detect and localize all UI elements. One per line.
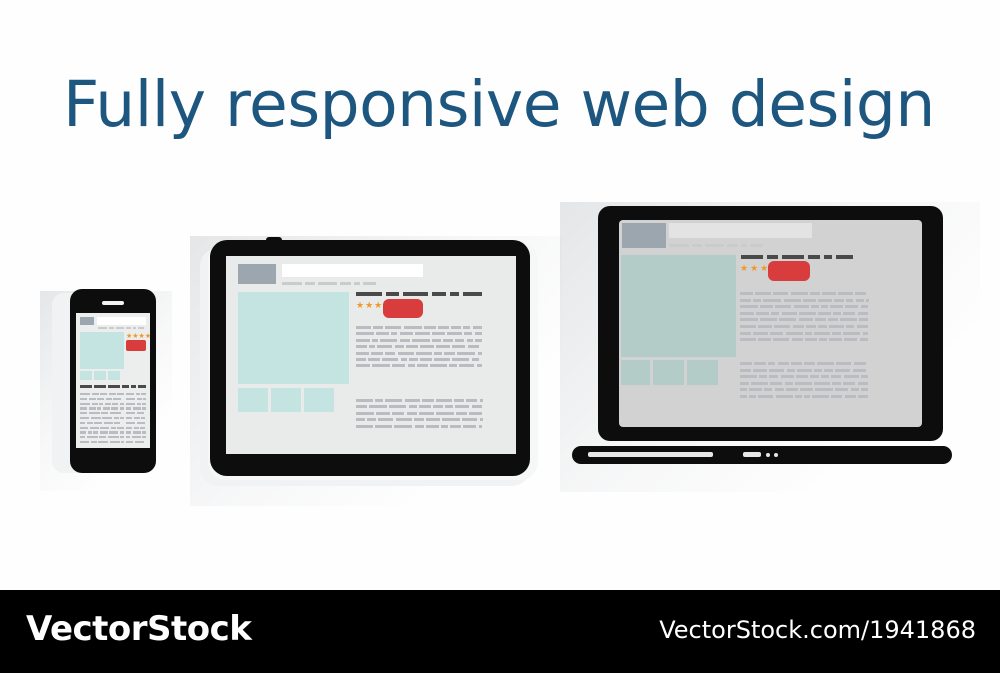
tablet-mini-nav-item[interactable] <box>305 282 315 285</box>
text-line <box>356 405 367 408</box>
text-line <box>98 441 108 443</box>
text-line <box>749 388 762 391</box>
text-line <box>409 358 418 361</box>
text-line <box>376 332 389 335</box>
text-line <box>786 388 798 391</box>
text-line <box>843 332 860 335</box>
text-line <box>401 358 407 361</box>
text-line <box>467 339 473 342</box>
text-line <box>817 362 834 365</box>
text-line <box>394 425 412 428</box>
text-line <box>779 318 796 321</box>
text-line <box>132 436 141 438</box>
text-line <box>436 412 454 415</box>
laptop-thumbnail[interactable] <box>653 360 684 385</box>
text-line <box>356 412 374 415</box>
text-line <box>436 399 452 402</box>
text-line <box>740 292 753 295</box>
text-line <box>126 398 135 400</box>
text-line <box>810 375 819 378</box>
text-line <box>861 375 868 378</box>
text-line <box>753 369 767 372</box>
device-laptop: ★★★★★ <box>568 200 968 475</box>
text-line <box>804 395 810 398</box>
tablet-nav-dash[interactable] <box>432 292 446 296</box>
text-line <box>110 441 120 443</box>
text-line <box>844 338 857 341</box>
text-line <box>80 441 89 443</box>
laptop-search-bar[interactable] <box>669 223 812 238</box>
watermark-footer: VectorStock VectorStock.com/1941868 <box>0 590 1000 673</box>
text-line <box>92 393 99 395</box>
text-line <box>126 441 133 443</box>
tablet-site-logo <box>238 264 276 284</box>
tablet-mini-nav-item[interactable] <box>282 282 302 285</box>
phone-search-bar[interactable] <box>97 317 146 325</box>
text-line <box>356 339 370 342</box>
text-line <box>479 425 482 428</box>
text-line <box>832 382 841 385</box>
text-line <box>799 312 816 315</box>
text-line <box>110 412 121 414</box>
text-line <box>369 345 375 348</box>
text-line <box>473 326 482 329</box>
text-line <box>137 422 145 424</box>
text-line <box>806 325 816 328</box>
text-line <box>858 312 868 315</box>
text-line <box>142 431 146 433</box>
text-line <box>818 299 832 302</box>
phone-mini-nav-item[interactable] <box>138 327 144 329</box>
text-line <box>770 382 782 385</box>
text-line <box>373 326 383 329</box>
text-line <box>356 425 373 428</box>
text-line <box>449 364 457 367</box>
text-line <box>404 326 422 329</box>
text-line <box>855 292 866 295</box>
text-line <box>859 318 868 321</box>
text-line <box>93 431 98 433</box>
text-line <box>845 305 858 308</box>
text-line <box>452 345 465 348</box>
text-line <box>140 427 145 429</box>
text-line <box>824 369 833 372</box>
text-line <box>740 362 752 365</box>
tablet-nav-dash[interactable] <box>386 292 399 296</box>
text-line <box>91 441 97 443</box>
text-line <box>782 312 797 315</box>
text-line <box>142 407 146 409</box>
text-line <box>740 305 758 308</box>
text-line <box>375 399 383 402</box>
laptop-mini-nav-item[interactable] <box>727 244 738 247</box>
text-line <box>108 436 119 438</box>
text-line <box>372 364 390 367</box>
phone-nav-dash[interactable] <box>108 385 120 388</box>
text-line <box>120 403 124 405</box>
text-line <box>142 436 146 438</box>
tablet-thumbnail[interactable] <box>304 388 334 412</box>
laptop-mini-nav-item[interactable] <box>705 244 724 247</box>
text-line <box>380 339 397 342</box>
text-line <box>109 431 118 433</box>
text-line <box>840 318 857 321</box>
text-line <box>442 418 460 421</box>
text-line <box>800 388 813 391</box>
laptop-thumbnail[interactable] <box>687 360 718 385</box>
text-line <box>398 352 414 355</box>
text-line <box>434 352 442 355</box>
text-line <box>858 382 868 385</box>
text-line <box>456 412 467 415</box>
text-line <box>100 431 108 433</box>
phone-mini-nav-item[interactable] <box>109 327 114 329</box>
text-line <box>80 436 85 438</box>
text-line <box>126 403 135 405</box>
text-line <box>858 395 868 398</box>
text-line <box>356 358 366 361</box>
text-line <box>799 318 813 321</box>
text-line <box>109 393 116 395</box>
laptop-nav-dash[interactable] <box>767 255 778 259</box>
text-line <box>810 292 820 295</box>
text-line <box>97 398 104 400</box>
text-line <box>791 362 802 365</box>
text-line <box>740 382 749 385</box>
text-line <box>861 305 868 308</box>
text-line <box>117 427 124 429</box>
phone-nav-dash[interactable] <box>131 385 136 388</box>
text-line <box>753 332 768 335</box>
laptop-thumbnail[interactable] <box>621 360 650 385</box>
tablet-mini-nav-item[interactable] <box>363 282 376 285</box>
text-line <box>120 431 124 433</box>
text-line <box>356 332 374 335</box>
text-line <box>120 417 124 419</box>
text-line <box>773 292 788 295</box>
laptop-base-dot <box>774 453 778 457</box>
text-line <box>775 388 784 391</box>
text-line <box>835 388 848 391</box>
text-line <box>114 422 120 424</box>
text-line <box>87 436 98 438</box>
tablet-nav-dash[interactable] <box>463 292 482 296</box>
text-line <box>796 375 808 378</box>
phone-site-logo <box>80 317 94 325</box>
tablet-screen: ★★★★★ <box>226 256 516 454</box>
text-line <box>376 412 390 415</box>
text-line <box>740 312 754 315</box>
text-line <box>466 399 477 402</box>
text-line <box>740 388 747 391</box>
text-line <box>420 345 434 348</box>
text-line <box>430 364 447 367</box>
text-line <box>760 318 777 321</box>
text-line <box>769 375 778 378</box>
phone-mini-nav-item[interactable] <box>126 327 131 329</box>
text-line <box>822 292 836 295</box>
text-line <box>378 418 393 421</box>
text-line <box>133 431 141 433</box>
text-line <box>844 375 859 378</box>
tablet-nav-dash[interactable] <box>450 292 459 296</box>
text-line <box>137 403 141 405</box>
text-line <box>831 395 842 398</box>
text-line <box>773 338 789 341</box>
text-line <box>475 339 482 342</box>
text-line <box>468 345 479 348</box>
text-line <box>80 431 86 433</box>
text-line <box>846 299 853 302</box>
text-line <box>371 352 383 355</box>
laptop-site-logo <box>622 223 666 248</box>
text-line <box>415 425 424 428</box>
text-line <box>126 427 132 429</box>
text-line <box>463 425 476 428</box>
text-line <box>426 418 440 421</box>
device-tablet: ★★★★★ <box>196 232 556 494</box>
text-line <box>133 407 141 409</box>
text-line <box>375 425 392 428</box>
text-line <box>464 332 472 335</box>
tablet-mini-nav-item[interactable] <box>340 282 351 285</box>
text-line <box>391 332 397 335</box>
vectorstock-url: VectorStock.com/1941868 <box>659 616 976 644</box>
text-line <box>126 412 135 414</box>
text-line <box>88 431 92 433</box>
text-line <box>740 318 758 321</box>
phone-mini-nav-item[interactable] <box>133 327 136 329</box>
text-line <box>472 405 482 408</box>
laptop-cta-button[interactable] <box>768 261 810 281</box>
tablet-search-bar[interactable] <box>282 264 423 277</box>
laptop-nav-dash[interactable] <box>741 255 763 259</box>
tablet-nav-dash[interactable] <box>403 292 428 296</box>
text-line <box>111 427 116 429</box>
text-line <box>793 325 804 328</box>
phone-thumbnail[interactable] <box>108 371 120 380</box>
text-line <box>856 299 864 302</box>
text-line <box>480 399 483 402</box>
device-smartphone: ★★★★★ <box>52 283 172 479</box>
laptop-mini-nav-item[interactable] <box>692 244 702 247</box>
text-line <box>436 345 450 348</box>
text-line <box>781 375 794 378</box>
text-line <box>420 358 432 361</box>
text-line <box>367 418 376 421</box>
phone-nav-dash[interactable] <box>80 385 92 388</box>
text-line <box>851 388 859 391</box>
text-line <box>141 417 145 419</box>
text-line <box>455 339 464 342</box>
phone-earpiece-speaker <box>102 301 124 305</box>
text-line <box>821 375 829 378</box>
text-line <box>91 417 101 419</box>
text-line <box>740 338 756 341</box>
text-line <box>829 325 844 328</box>
text-line <box>126 417 132 419</box>
tablet-cta-button[interactable] <box>383 299 423 318</box>
text-line <box>419 405 431 408</box>
text-line <box>447 332 462 335</box>
text-line <box>385 326 401 329</box>
laptop-mini-nav-item[interactable] <box>741 244 747 247</box>
text-line <box>356 345 367 348</box>
text-line <box>433 405 443 408</box>
text-line <box>792 338 803 341</box>
text-line <box>422 399 434 402</box>
text-line <box>805 332 812 335</box>
text-line <box>121 441 124 443</box>
text-line <box>417 364 428 367</box>
text-line <box>400 339 410 342</box>
phone-nav-dash[interactable] <box>138 385 146 388</box>
phone-nav-dash[interactable] <box>94 385 106 388</box>
text-line <box>102 417 112 419</box>
text-line <box>768 362 775 365</box>
tablet-thumbnail[interactable] <box>271 388 301 412</box>
text-line <box>143 398 146 400</box>
laptop-nav-dash[interactable] <box>836 255 853 259</box>
text-line <box>760 305 773 308</box>
text-line <box>136 393 140 395</box>
text-line <box>843 382 855 385</box>
text-line <box>459 364 474 367</box>
text-line <box>426 425 439 428</box>
text-line <box>763 299 781 302</box>
text-line <box>797 369 812 372</box>
text-line <box>472 358 479 361</box>
text-line <box>764 388 772 391</box>
phone-rating-stars: ★★★★★ <box>126 333 150 340</box>
text-line <box>372 339 378 342</box>
text-line <box>814 332 830 335</box>
phone-cta-button[interactable] <box>126 340 146 351</box>
text-line <box>90 427 99 429</box>
text-line <box>815 318 826 321</box>
text-line <box>80 422 85 424</box>
text-line <box>803 299 816 302</box>
text-line <box>784 299 801 302</box>
phone-nav-dash[interactable] <box>122 385 129 388</box>
text-line <box>137 412 144 414</box>
text-line <box>775 305 791 308</box>
text-line <box>830 305 843 308</box>
text-line <box>769 369 784 372</box>
text-line <box>857 325 868 328</box>
text-line <box>111 407 118 409</box>
text-line <box>106 398 112 400</box>
text-line <box>450 425 461 428</box>
text-line <box>142 403 146 405</box>
laptop-mini-nav-item[interactable] <box>750 244 763 247</box>
text-line <box>795 395 802 398</box>
text-line <box>805 338 817 341</box>
text-line <box>821 305 828 308</box>
text-line <box>97 407 101 409</box>
text-line <box>356 352 369 355</box>
text-line <box>438 326 449 329</box>
text-line <box>452 358 469 361</box>
text-line <box>740 332 751 335</box>
text-line <box>369 405 387 408</box>
laptop-mini-nav-item[interactable] <box>669 244 689 247</box>
phone-thumbnail[interactable] <box>94 371 106 380</box>
text-line <box>462 418 477 421</box>
text-line <box>400 332 413 335</box>
phone-mini-nav-item[interactable] <box>116 327 124 329</box>
text-line <box>754 362 766 365</box>
laptop-base-dash <box>743 452 761 457</box>
laptop-nav-dash[interactable] <box>782 255 804 259</box>
text-line <box>818 325 827 328</box>
text-line <box>451 326 461 329</box>
text-line <box>838 292 853 295</box>
text-line <box>477 364 482 367</box>
laptop-nav-dash[interactable] <box>824 255 832 259</box>
text-line <box>120 407 124 409</box>
text-line <box>853 369 866 372</box>
text-line <box>787 369 795 372</box>
laptop-hero-image <box>621 255 736 357</box>
text-line <box>100 427 109 429</box>
text-line <box>117 393 124 395</box>
text-line <box>846 325 854 328</box>
phone-thumbnail[interactable] <box>80 371 92 380</box>
text-line <box>100 393 107 395</box>
text-line <box>432 339 441 342</box>
tablet-mini-nav-item[interactable] <box>354 282 360 285</box>
text-line <box>829 338 842 341</box>
text-line <box>434 358 450 361</box>
text-line <box>105 403 111 405</box>
phone-mini-nav-item[interactable] <box>98 327 107 329</box>
text-line <box>424 326 436 329</box>
text-line <box>126 393 134 395</box>
text-line <box>134 427 139 429</box>
text-line <box>356 364 370 367</box>
text-line <box>419 412 434 415</box>
tablet-thumbnail[interactable] <box>238 388 268 412</box>
text-line <box>814 369 822 372</box>
text-line <box>114 417 119 419</box>
text-line <box>137 398 142 400</box>
text-line <box>356 418 365 421</box>
text-line <box>80 427 88 429</box>
text-line <box>134 417 140 419</box>
text-line <box>759 375 767 378</box>
text-line <box>751 382 768 385</box>
text-line <box>80 412 87 414</box>
text-line <box>445 405 453 408</box>
tablet-nav-dash[interactable] <box>356 292 382 296</box>
text-line <box>80 403 90 405</box>
text-line <box>412 339 430 342</box>
text-line <box>126 422 135 424</box>
laptop-nav-dash[interactable] <box>808 255 820 259</box>
text-line <box>377 345 392 348</box>
text-line <box>828 318 838 321</box>
text-line <box>835 369 850 372</box>
text-line <box>818 312 831 315</box>
text-line <box>866 299 869 302</box>
text-line <box>833 312 841 315</box>
tablet-mini-nav-item[interactable] <box>318 282 337 285</box>
text-line <box>99 403 103 405</box>
text-line <box>786 332 803 335</box>
text-line <box>819 338 827 341</box>
text-line <box>94 422 102 424</box>
